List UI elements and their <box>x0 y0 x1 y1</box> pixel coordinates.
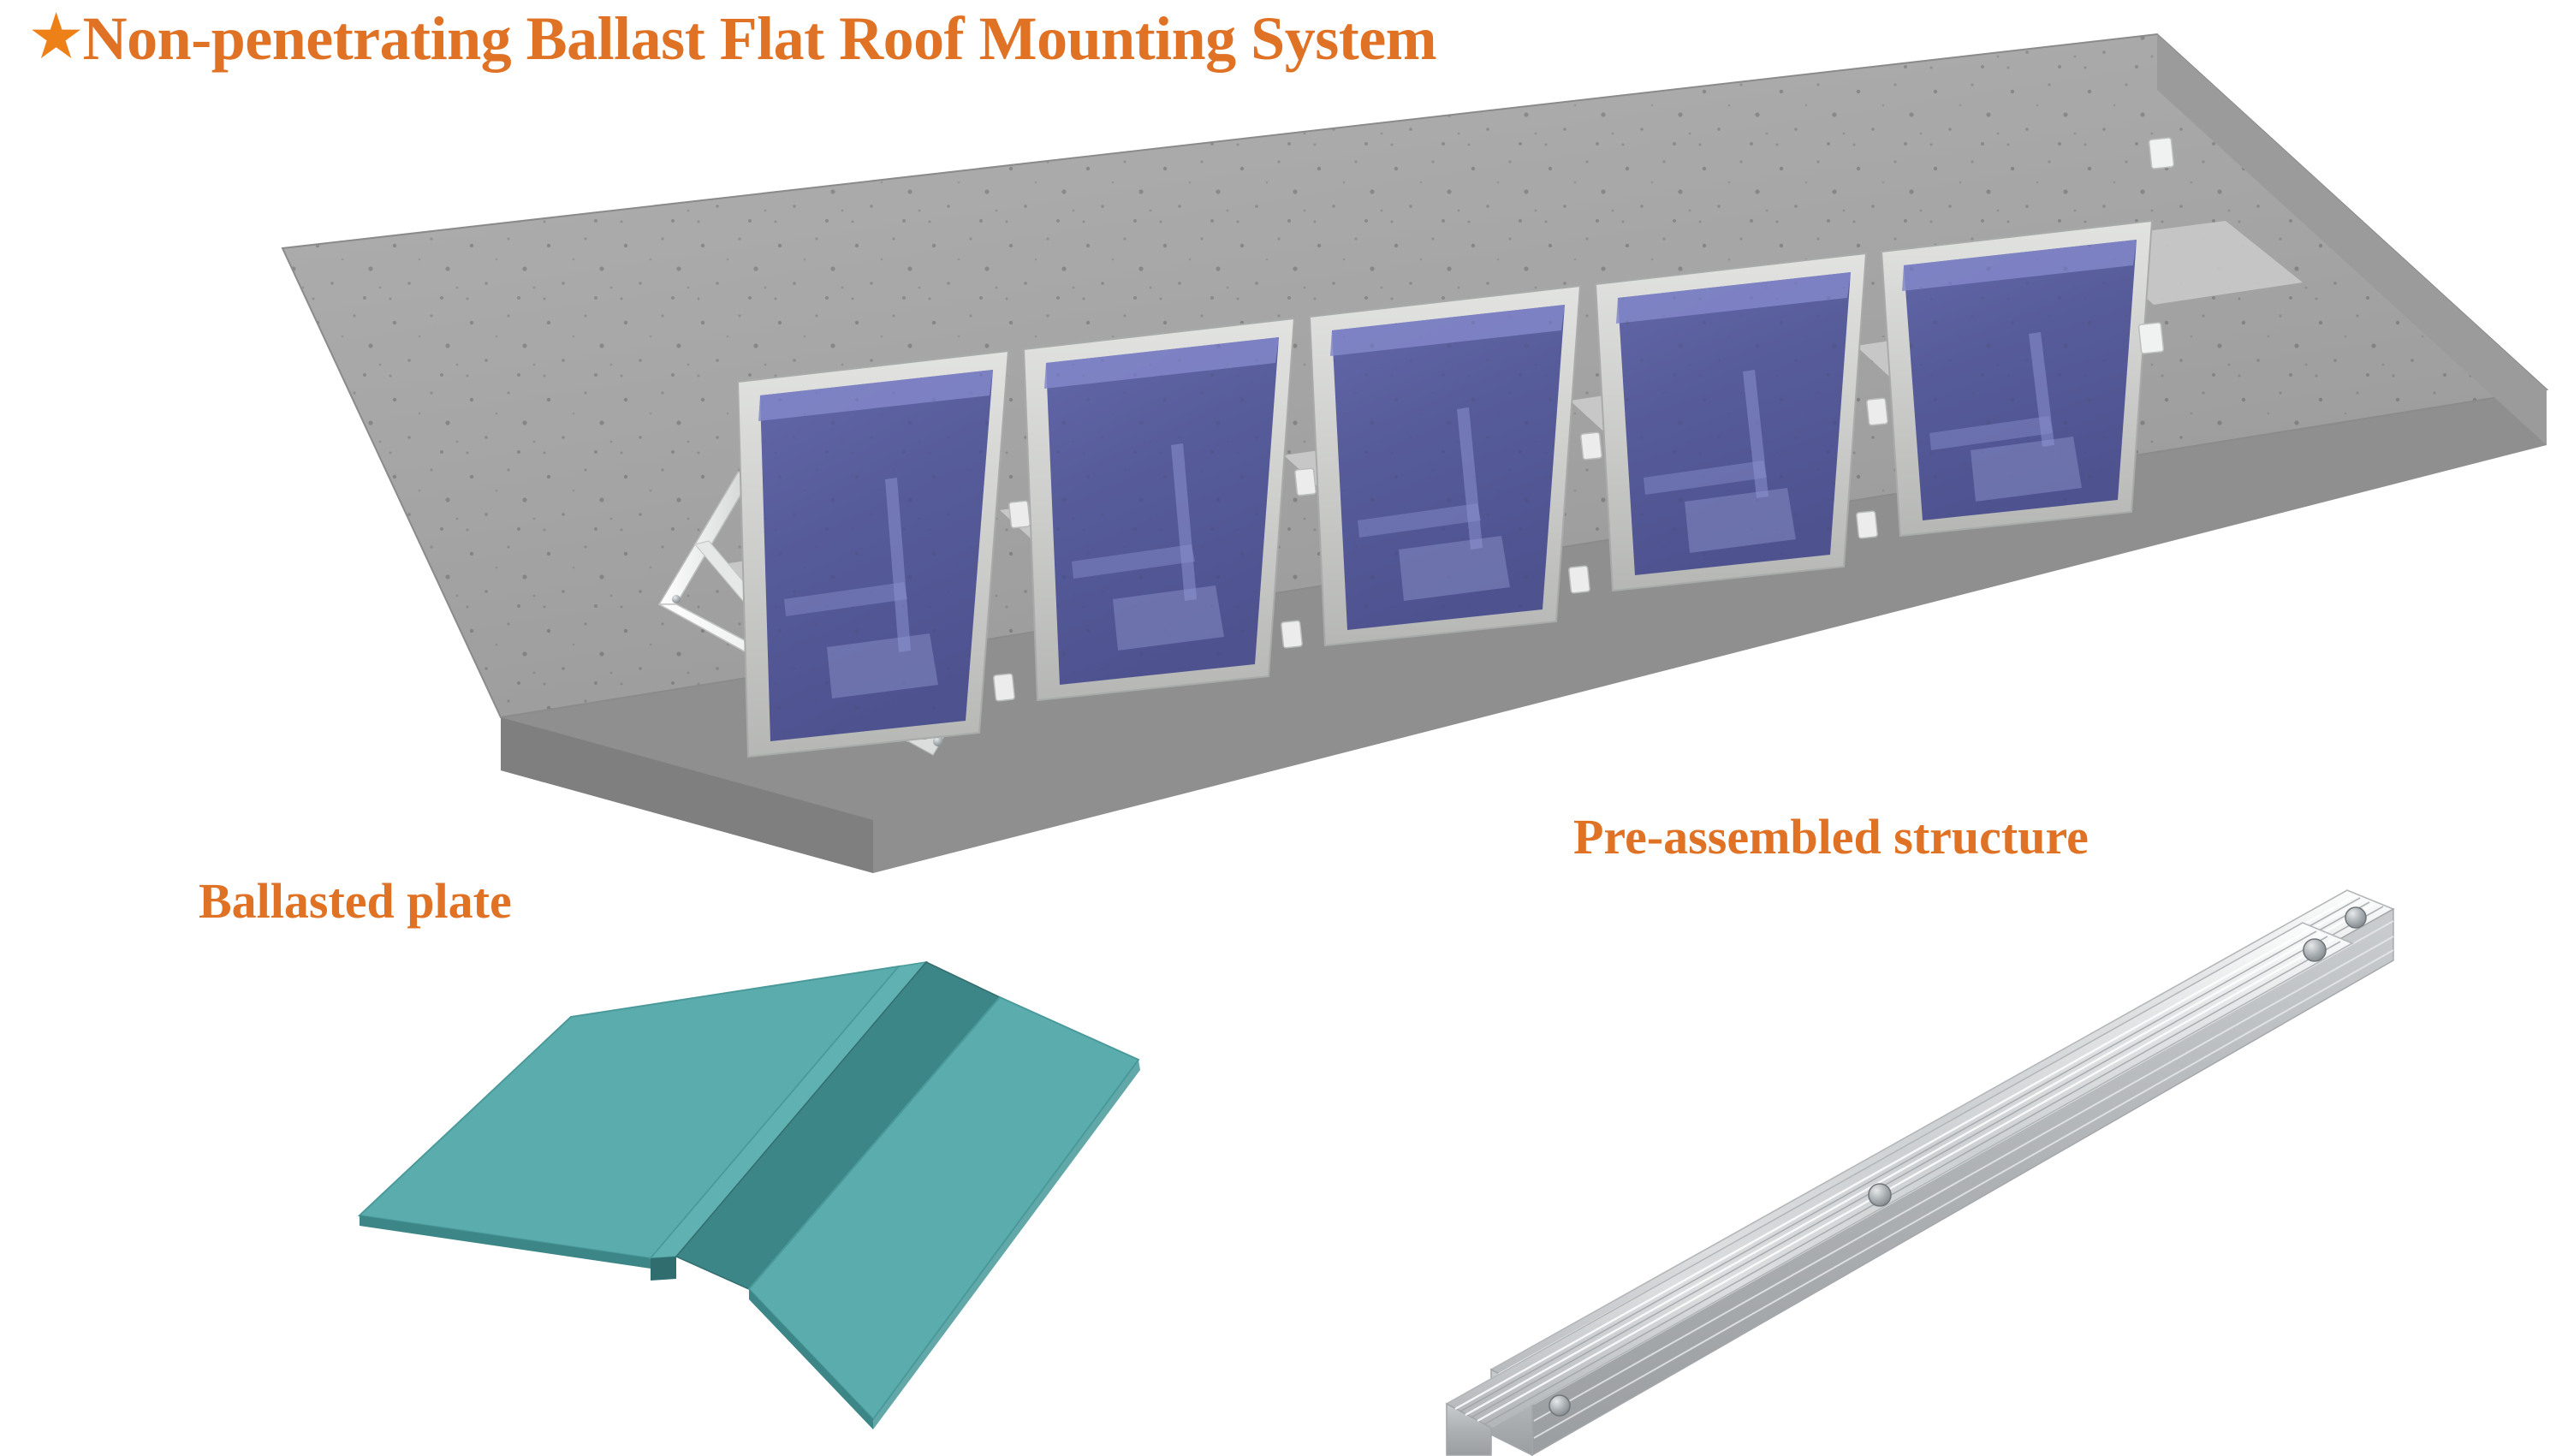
mid-clamp <box>1294 468 1316 496</box>
solar-panel <box>738 351 1008 757</box>
ballast-plate-ridge-endcap <box>651 1257 676 1281</box>
bolt <box>672 595 681 603</box>
mid-clamp <box>1866 398 1887 425</box>
star-icon: ★ <box>31 9 81 66</box>
solar-panel <box>1881 221 2152 536</box>
illustration-canvas: ★ Non-penetrating Ballast Flat Roof Moun… <box>0 0 2568 1456</box>
rail-lower <box>1447 923 2352 1455</box>
mid-clamp <box>1281 621 1302 648</box>
product-scene <box>0 0 2568 1456</box>
end-clamp <box>2138 323 2163 354</box>
mid-clamp <box>993 674 1014 701</box>
mid-clamp <box>1856 511 1877 538</box>
rail-bolt <box>2303 939 2326 961</box>
ballasted-plate-label: Ballasted plate <box>199 872 512 930</box>
preassembled-structure-label: Pre-assembled structure <box>1573 808 2089 865</box>
solar-panel <box>1310 286 1580 645</box>
mid-clamp <box>1580 432 1602 460</box>
page-title: ★ Non-penetrating Ballast Flat Roof Moun… <box>31 7 1436 72</box>
end-clamp <box>2149 138 2173 169</box>
solar-panel <box>1024 318 1294 700</box>
mid-clamp <box>1008 501 1030 528</box>
solar-panel <box>1596 253 1866 591</box>
preassembled-rail-model <box>1447 890 2393 1455</box>
mid-clamp <box>1568 566 1590 593</box>
rail-bolt <box>1549 1395 1570 1416</box>
ballasted-plate-model <box>360 962 1140 1429</box>
page-title-text: Non-penetrating Ballast Flat Roof Mounti… <box>83 7 1436 72</box>
rail-bolt <box>1869 1184 1891 1206</box>
rail-bolt <box>2345 907 2366 928</box>
